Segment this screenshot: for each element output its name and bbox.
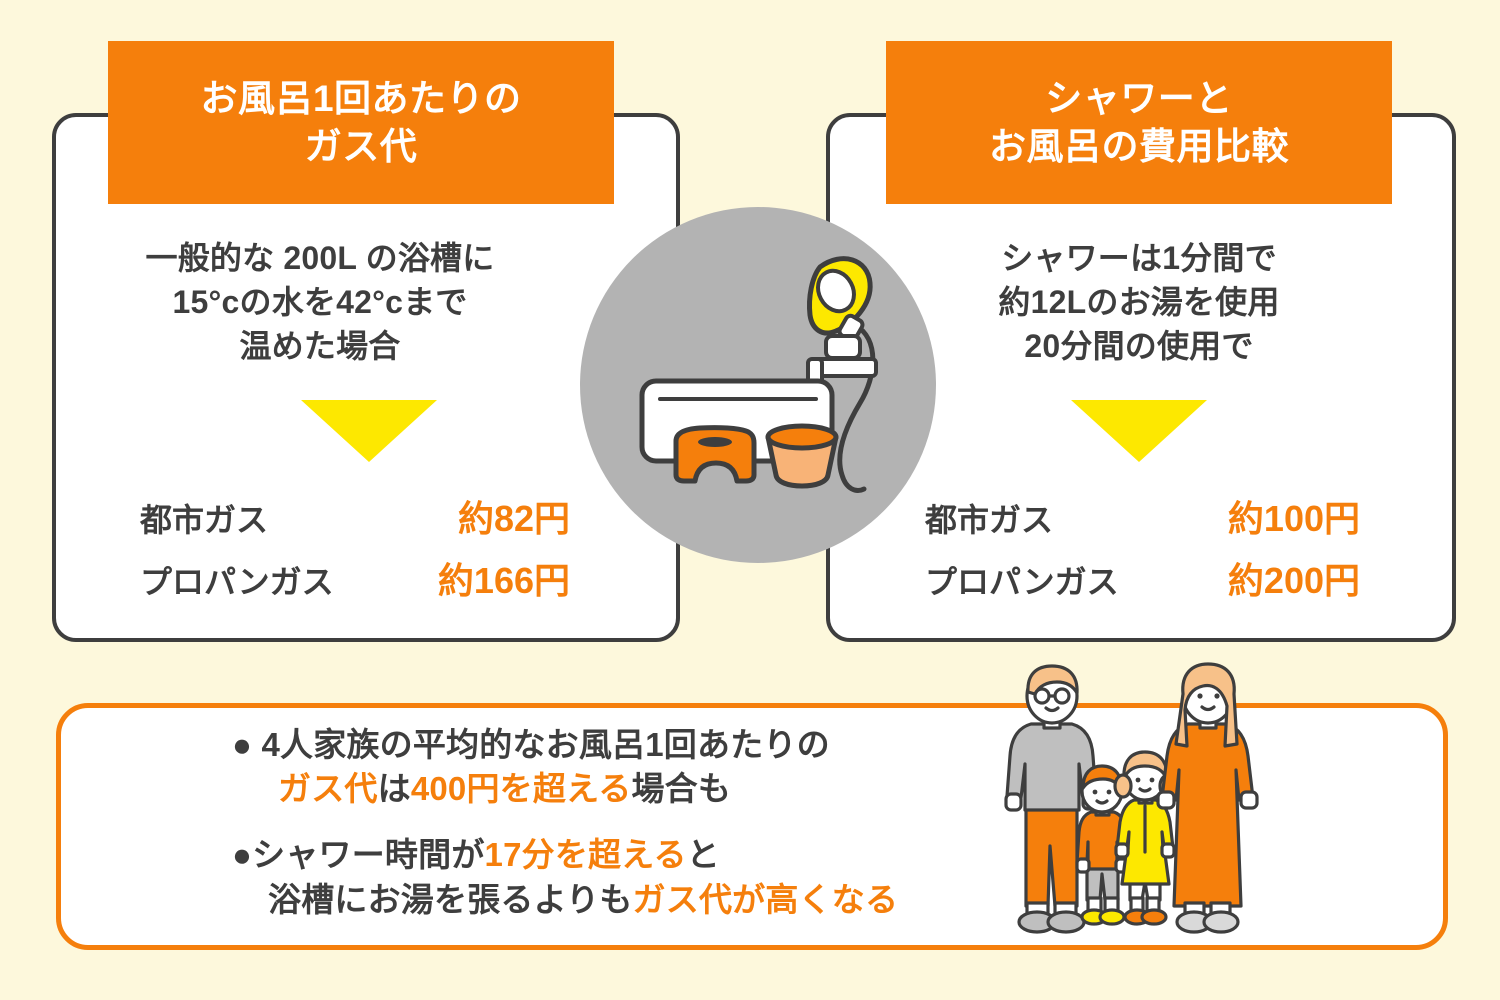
price-table-shower: 都市ガス 約100円 プロパンガス 約200円: [925, 490, 1360, 614]
card-header-line-2: ガス代: [200, 123, 521, 170]
card-header-shower-vs-bath: シャワーと お風呂の費用比較: [886, 41, 1392, 204]
bathtub-shower-icon: [580, 207, 936, 563]
body-line-1: シャワーは1分間で: [902, 236, 1376, 280]
bullet-1-seg-1: ガス代: [278, 770, 378, 807]
bullet-2-line-1: ●シャワー時間が17分を超えると: [232, 833, 992, 877]
bullet-item-2: ●シャワー時間が17分を超えると 浴槽にお湯を張るよりもガス代が高くなる: [232, 833, 992, 921]
price-label-propane-gas: プロパンガス: [925, 557, 1119, 603]
bullet-1-seg-3: 400円を超える: [411, 770, 632, 807]
down-arrow-icon-right: [1071, 400, 1207, 462]
bullet-2-seg-1: ●シャワー時間が: [232, 836, 485, 873]
bullet-1-seg-2: は: [378, 770, 411, 807]
bullet-2-seg-3: と: [687, 836, 720, 873]
price-value-city-gas: 約82円: [458, 490, 570, 542]
bullet-1-seg-4: 場合も: [631, 770, 731, 807]
bullet-2-seg-5: ガス代が高くなる: [633, 881, 899, 918]
bullet-2-seg-2: 17分を超える: [485, 836, 687, 873]
down-arrow-icon-left: [301, 400, 437, 462]
price-row: 都市ガス 約82円: [140, 490, 570, 542]
summary-bullets: ● 4人家族の平均的なお風呂1回あたりの ガス代は400円を超える場合も ●シャ…: [232, 723, 992, 944]
body-line-3: 温めた場合: [60, 324, 580, 368]
card-header-line-1: シャワーと: [989, 75, 1289, 122]
price-value-propane-gas: 約200円: [1228, 552, 1360, 604]
card-body-bath-gas-cost: 一般的な 200L の浴槽に 15°cの水を42°cまで 温めた場合: [60, 236, 580, 368]
body-line-2: 15°cの水を42°cまで: [60, 280, 580, 324]
price-table-bath: 都市ガス 約82円 プロパンガス 約166円: [140, 490, 570, 614]
bullet-2-line-2: 浴槽にお湯を張るよりもガス代が高くなる: [232, 878, 992, 922]
price-row: プロパンガス 約200円: [925, 552, 1360, 604]
price-row: プロパンガス 約166円: [140, 552, 570, 604]
bullet-1-line-1-text: ● 4人家族の平均的なお風呂1回あたりの: [232, 726, 830, 763]
price-value-city-gas: 約100円: [1228, 490, 1360, 542]
price-row: 都市ガス 約100円: [925, 490, 1360, 542]
bullet-1-line-2: ガス代は400円を超える場合も: [232, 767, 992, 811]
card-body-shower-vs-bath: シャワーは1分間で 約12Lのお湯を使用 20分間の使用で: [902, 236, 1376, 368]
bullet-1-line-1: ● 4人家族の平均的なお風呂1回あたりの: [232, 723, 992, 767]
card-header-line-2: お風呂の費用比較: [989, 123, 1289, 170]
body-line-1: 一般的な 200L の浴槽に: [60, 236, 580, 280]
price-label-propane-gas: プロパンガス: [140, 557, 334, 603]
price-label-city-gas: 都市ガス: [925, 495, 1053, 541]
body-line-3: 20分間の使用で: [902, 324, 1376, 368]
family-of-four-icon: [995, 660, 1260, 945]
card-header-line-1: お風呂1回あたりの: [200, 75, 521, 122]
price-value-propane-gas: 約166円: [438, 552, 570, 604]
bullet-2-seg-4: 浴槽にお湯を張るよりも: [268, 881, 633, 918]
bullet-item-1: ● 4人家族の平均的なお風呂1回あたりの ガス代は400円を超える場合も: [232, 723, 992, 811]
price-label-city-gas: 都市ガス: [140, 495, 268, 541]
infographic-root: お風呂1回あたりの ガス代 一般的な 200L の浴槽に 15°cの水を42°c…: [0, 0, 1500, 1000]
card-header-bath-gas-cost: お風呂1回あたりの ガス代: [108, 41, 614, 204]
body-line-2: 約12Lのお湯を使用: [902, 280, 1376, 324]
